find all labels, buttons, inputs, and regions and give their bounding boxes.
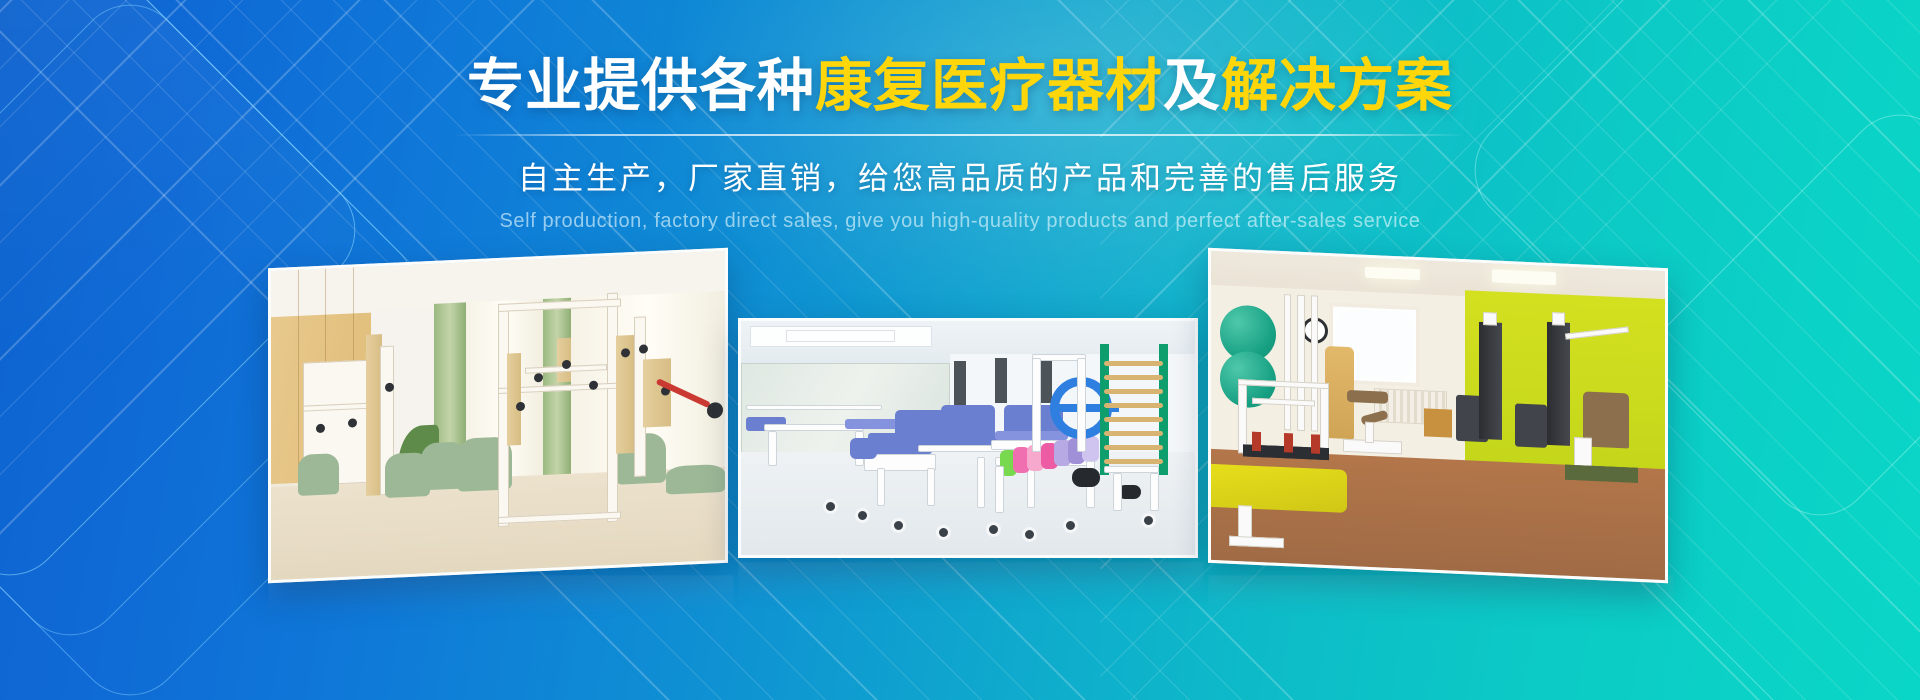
scene-rehab-training-room [271, 251, 725, 580]
banner-text-block: 专业提供各种康复医疗器材及解决方案 自主生产，厂家直销，给您高品质的产品和完善的… [0, 56, 1920, 233]
scene-physical-therapy-gym [1211, 251, 1665, 580]
headline-segment-4: 解决方案 [1221, 54, 1453, 118]
scene-physiotherapy-hall [741, 321, 1195, 555]
photo-rehab-training-room [268, 248, 728, 583]
subtitle-chinese: 自主生产，厂家直销，给您高品质的产品和完善的售后服务 [0, 153, 1920, 198]
photo-physiotherapy-equipment-hall [738, 318, 1198, 558]
promo-banner: 专业提供各种康复医疗器材及解决方案 自主生产，厂家直销，给您高品质的产品和完善的… [0, 0, 1920, 700]
headline-segment-3: 及 [1163, 54, 1221, 118]
headline-segment-1: 专业提供各种 [467, 54, 815, 118]
subtitle-english: Self production, factory direct sales, g… [0, 210, 1920, 233]
headline-segment-2: 康复医疗器材 [815, 54, 1163, 118]
photo-physical-therapy-gym [1208, 248, 1668, 583]
page-title: 专业提供各种康复医疗器材及解决方案 [0, 56, 1920, 116]
headline-divider [454, 134, 1466, 136]
